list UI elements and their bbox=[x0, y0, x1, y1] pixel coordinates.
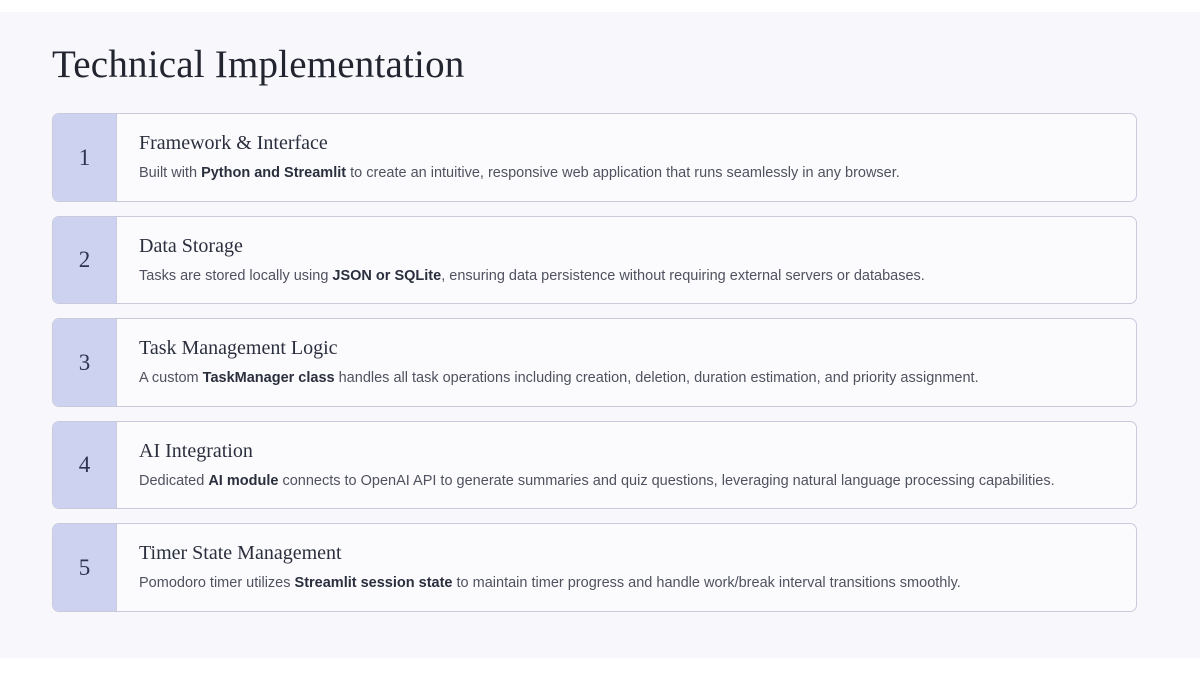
step-content: AI Integration Dedicated AI module conne… bbox=[117, 422, 1136, 509]
step-number-box: 5 bbox=[53, 524, 117, 611]
step-content: Task Management Logic A custom TaskManag… bbox=[117, 319, 1136, 406]
step-description-post: connects to OpenAI API to generate summa… bbox=[278, 473, 1054, 489]
step-description-post: to create an intuitive, responsive web a… bbox=[346, 165, 900, 181]
step-description: Dedicated AI module connects to OpenAI A… bbox=[139, 472, 1116, 492]
step-description-pre: Dedicated bbox=[139, 473, 208, 489]
step-title: Data Storage bbox=[139, 234, 1116, 258]
step-number-box: 4 bbox=[53, 422, 117, 509]
step-description: Tasks are stored locally using JSON or S… bbox=[139, 267, 1116, 287]
step-number: 1 bbox=[79, 146, 91, 169]
step-description-highlight: Streamlit session state bbox=[295, 575, 453, 591]
step-description-pre: Tasks are stored locally using bbox=[139, 268, 332, 284]
step-content: Timer State Management Pomodoro timer ut… bbox=[117, 524, 1136, 611]
step-content: Framework & Interface Built with Python … bbox=[117, 114, 1136, 201]
step-description-pre: Built with bbox=[139, 165, 201, 181]
step-content: Data Storage Tasks are stored locally us… bbox=[117, 217, 1136, 304]
step-description-post: to maintain timer progress and handle wo… bbox=[453, 575, 961, 591]
step-number-box: 3 bbox=[53, 319, 117, 406]
step-number-box: 1 bbox=[53, 114, 117, 201]
page-title: Technical Implementation bbox=[52, 42, 465, 87]
step-card-4[interactable]: 4 AI Integration Dedicated AI module con… bbox=[52, 421, 1137, 510]
step-number: 2 bbox=[79, 248, 91, 271]
step-description-pre: A custom bbox=[139, 370, 203, 386]
step-card-1[interactable]: 1 Framework & Interface Built with Pytho… bbox=[52, 113, 1137, 202]
step-title: AI Integration bbox=[139, 439, 1116, 463]
step-description-highlight: Python and Streamlit bbox=[201, 165, 346, 181]
step-number: 5 bbox=[79, 556, 91, 579]
step-title: Framework & Interface bbox=[139, 131, 1116, 155]
step-title: Timer State Management bbox=[139, 541, 1116, 565]
step-card-2[interactable]: 2 Data Storage Tasks are stored locally … bbox=[52, 216, 1137, 305]
step-number: 3 bbox=[79, 351, 91, 374]
step-description-highlight: AI module bbox=[208, 473, 278, 489]
step-card-5[interactable]: 5 Timer State Management Pomodoro timer … bbox=[52, 523, 1137, 612]
step-description: A custom TaskManager class handles all t… bbox=[139, 369, 1116, 389]
steps-list: 1 Framework & Interface Built with Pytho… bbox=[52, 113, 1137, 626]
step-description: Built with Python and Streamlit to creat… bbox=[139, 164, 1116, 184]
step-description-highlight: TaskManager class bbox=[203, 370, 335, 386]
step-number: 4 bbox=[79, 453, 91, 476]
step-description-highlight: JSON or SQLite bbox=[332, 268, 441, 284]
step-description-post: handles all task operations including cr… bbox=[335, 370, 979, 386]
step-description-post: , ensuring data persistence without requ… bbox=[441, 268, 925, 284]
step-description-pre: Pomodoro timer utilizes bbox=[139, 575, 295, 591]
step-title: Task Management Logic bbox=[139, 336, 1116, 360]
slide-root: Technical Implementation 1 Framework & I… bbox=[0, 0, 1200, 675]
step-number-box: 2 bbox=[53, 217, 117, 304]
step-card-3[interactable]: 3 Task Management Logic A custom TaskMan… bbox=[52, 318, 1137, 407]
step-description: Pomodoro timer utilizes Streamlit sessio… bbox=[139, 574, 1116, 594]
